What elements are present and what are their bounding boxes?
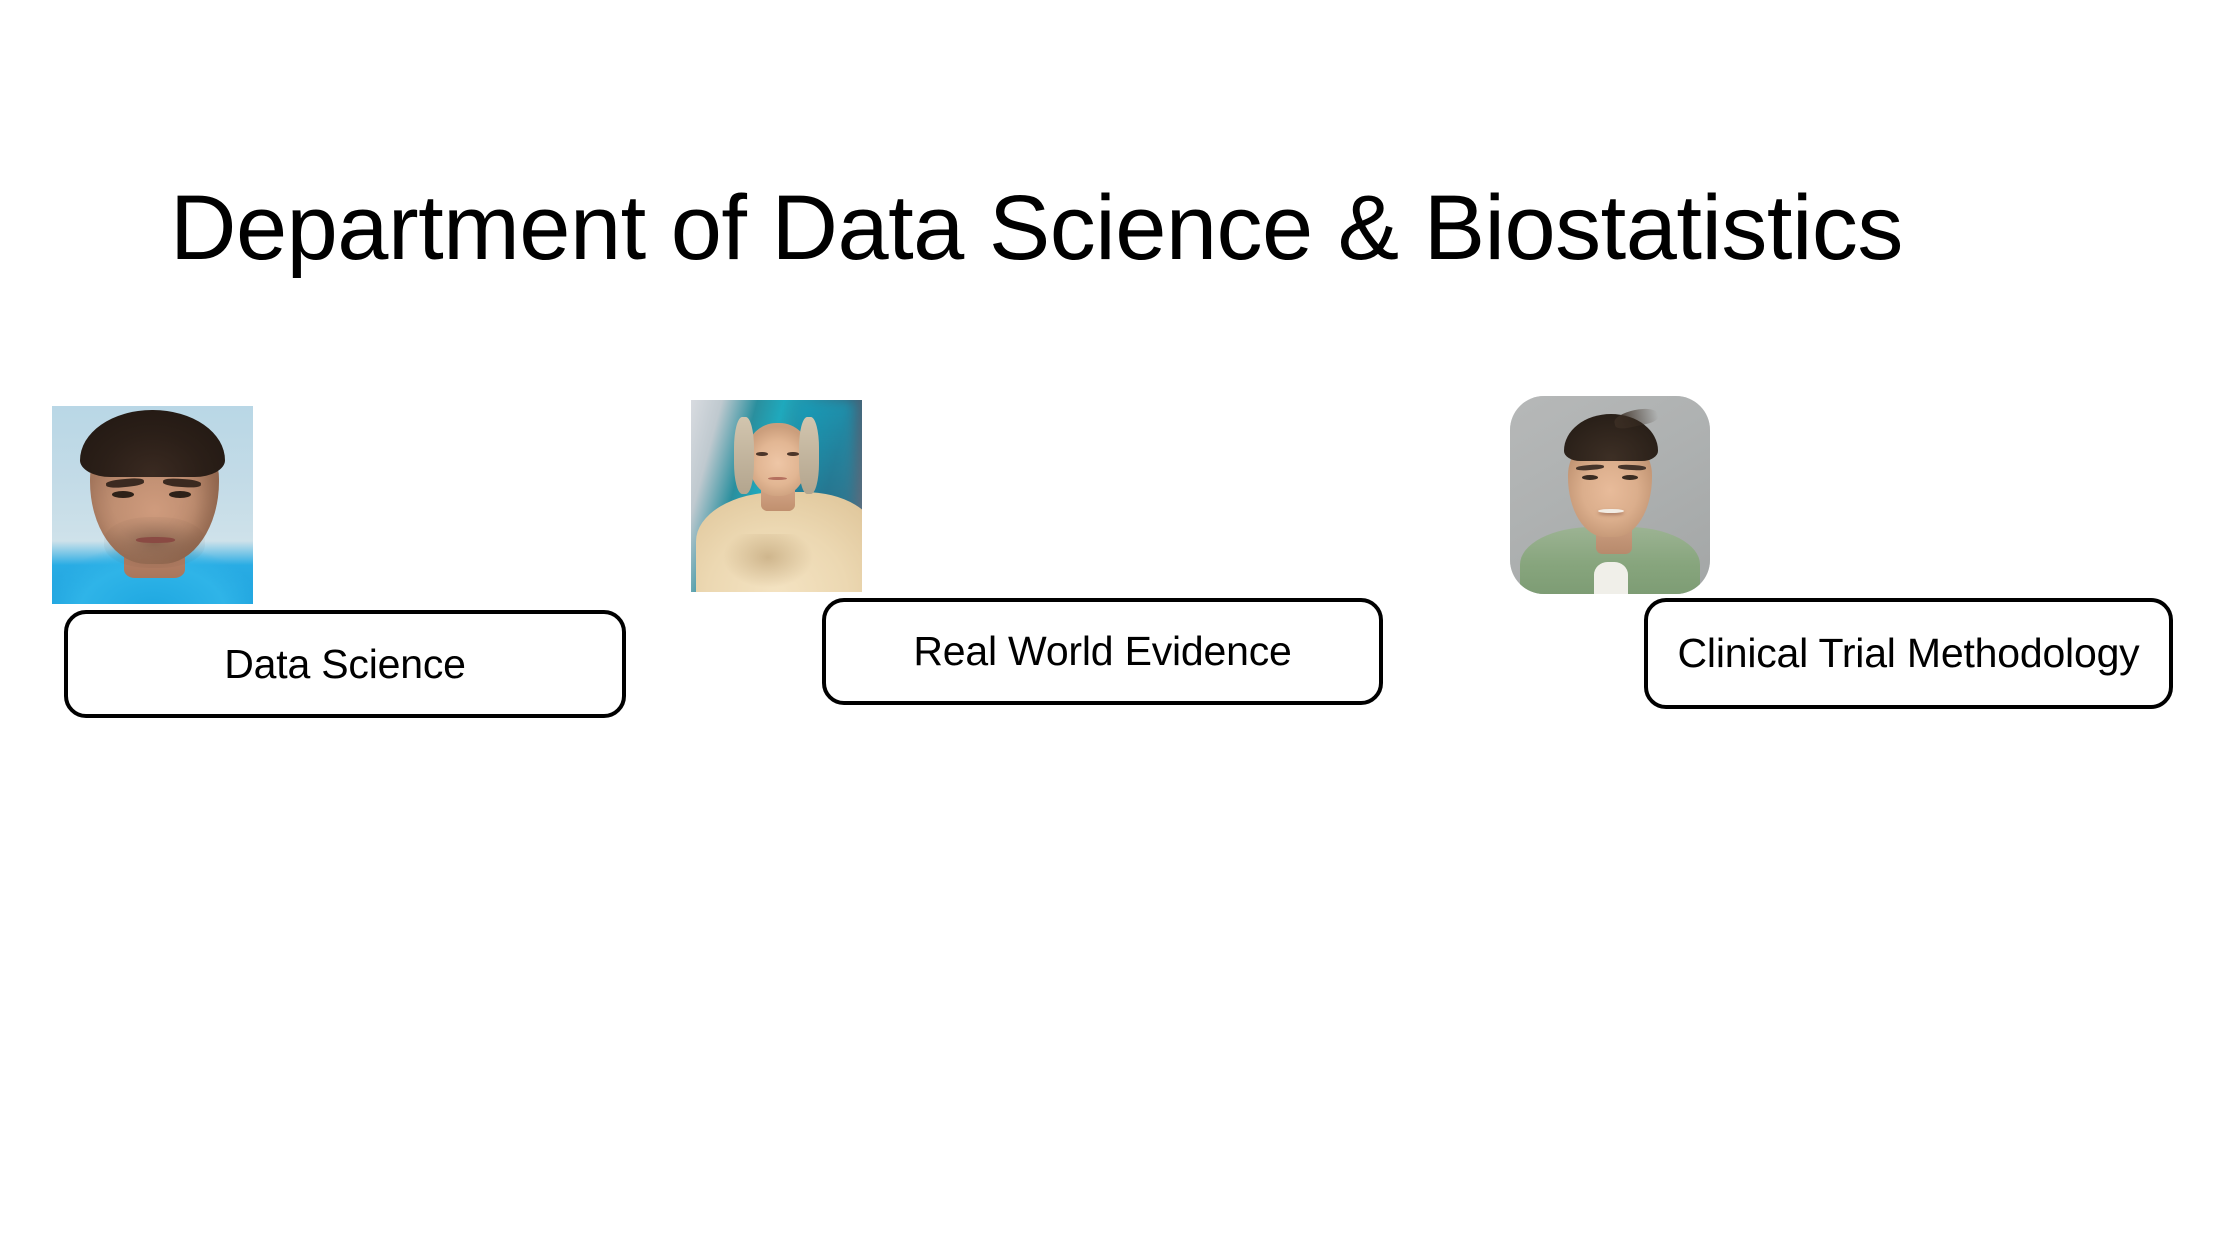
- photo-eye-right: [787, 452, 799, 456]
- photo-eye-right: [169, 491, 191, 498]
- photo-collar: [1594, 562, 1628, 594]
- label-text-clinical-trial-methodology: Clinical Trial Methodology: [1678, 630, 2140, 677]
- portrait-image-content: [691, 400, 862, 592]
- presentation-slide: Department of Data Science & Biostatisti…: [0, 0, 2222, 1250]
- portrait-photo-real-world-evidence: [691, 400, 862, 592]
- photo-hair-strand-left: [734, 417, 755, 494]
- photo-clothing-shadow: [718, 534, 817, 592]
- label-text-data-science: Data Science: [224, 641, 465, 688]
- label-box-clinical-trial-methodology[interactable]: Clinical Trial Methodology: [1644, 598, 2173, 709]
- photo-eye-left: [1582, 475, 1598, 480]
- portrait-photo-data-science: [52, 406, 253, 604]
- portrait-image-content: [52, 406, 253, 604]
- photo-mouth: [136, 537, 174, 543]
- label-box-real-world-evidence[interactable]: Real World Evidence: [822, 598, 1383, 705]
- page-title: Department of Data Science & Biostatisti…: [170, 180, 2070, 277]
- photo-hair-strand-right: [799, 417, 820, 494]
- label-box-data-science[interactable]: Data Science: [64, 610, 626, 718]
- label-text-real-world-evidence: Real World Evidence: [913, 628, 1291, 675]
- photo-beard: [104, 517, 205, 568]
- photo-eye-left: [112, 491, 134, 498]
- portrait-photo-clinical-trial-methodology: [1510, 396, 1710, 594]
- portrait-image-content: [1510, 396, 1710, 594]
- photo-eye-right: [1622, 475, 1638, 480]
- photo-eye-left: [756, 452, 768, 456]
